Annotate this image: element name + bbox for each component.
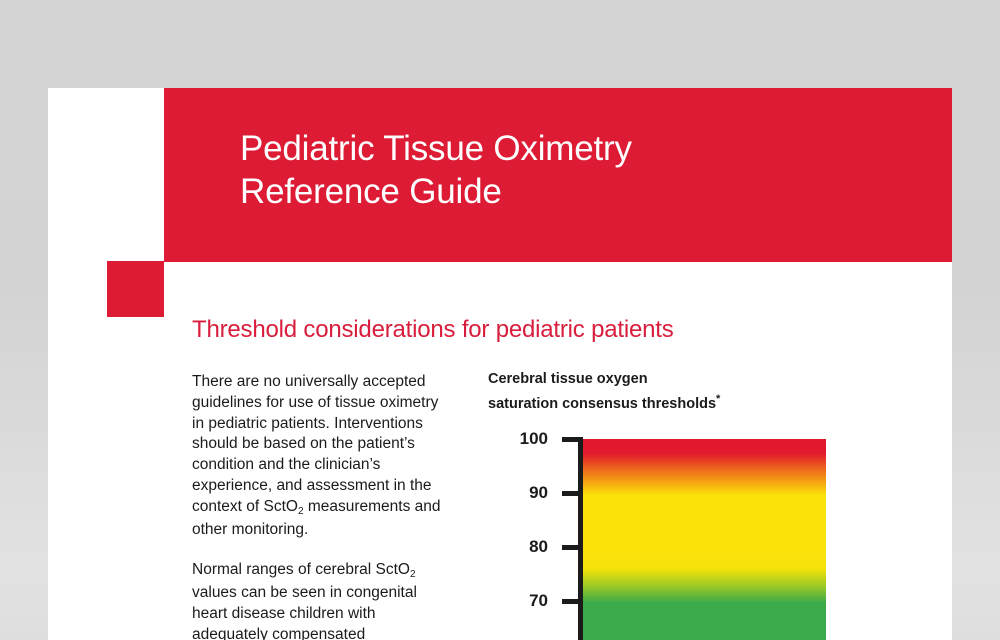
axis-tick-label-100: 100 [488, 430, 548, 447]
axis-tick-label-80: 80 [488, 538, 548, 555]
axis-tick-100 [562, 437, 583, 442]
document-page: Pediatric Tissue Oximetry Reference Guid… [48, 88, 952, 640]
paragraph-1: There are no universally accepted guidel… [192, 372, 450, 540]
axis-tick-70 [562, 599, 583, 604]
paragraph-1-text-a: There are no universally accepted guidel… [192, 373, 438, 515]
body-text-column: There are no universally accepted guidel… [192, 372, 450, 640]
axis-tick-80 [562, 545, 583, 550]
axis-tick-label-90: 90 [488, 484, 548, 501]
subscript-two: 2 [298, 506, 304, 517]
paragraph-2-text-a: Normal ranges of cerebral SctO [192, 561, 410, 578]
paragraph-2-text-b: values can be seen in congenital heart d… [192, 584, 417, 640]
chart-block: Cerebral tissue oxygen saturation consen… [488, 370, 880, 414]
chart-title-text: Cerebral tissue oxygen saturation consen… [488, 371, 716, 411]
threshold-gradient-chart: 100 90 80 70 Cautionary value Acceptable… [488, 437, 880, 640]
paragraph-2: Normal ranges of cerebral SctO2 values c… [192, 560, 450, 640]
axis-tick-90 [562, 491, 583, 496]
section-heading: Threshold considerations for pediatric p… [192, 316, 674, 344]
footnote-marker-icon: * [716, 393, 720, 405]
chart-title: Cerebral tissue oxygen saturation consen… [488, 370, 880, 414]
axis-tick-label-70: 70 [488, 592, 548, 609]
page-content: Threshold considerations for pediatric p… [48, 88, 952, 640]
subscript-two: 2 [410, 569, 416, 580]
y-axis-spine [578, 437, 583, 640]
gradient-band [583, 439, 826, 640]
